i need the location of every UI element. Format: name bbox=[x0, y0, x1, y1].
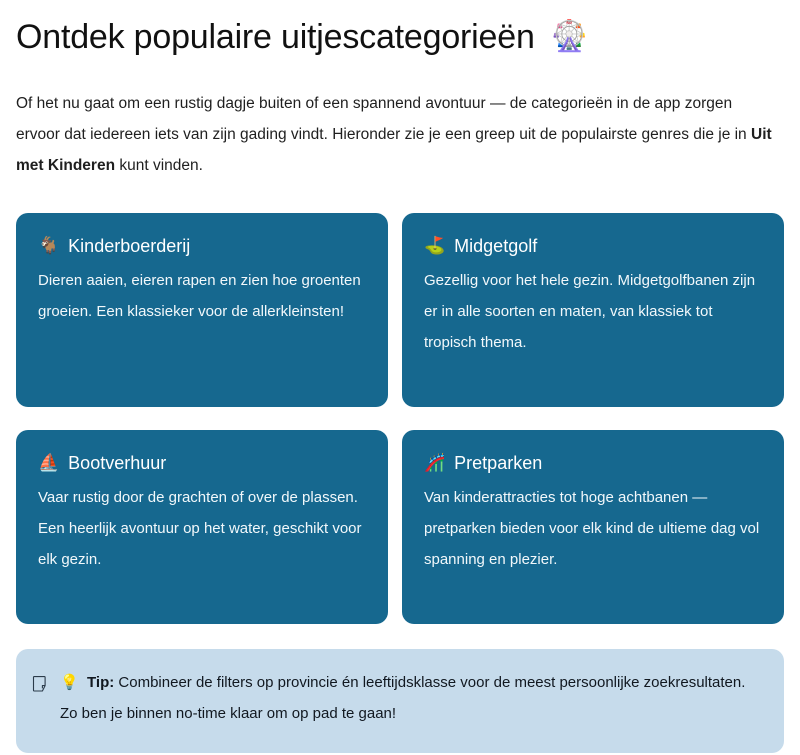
card-title: Bootverhuur bbox=[68, 450, 166, 476]
category-card-kinderboerderij[interactable]: 🐐 Kinderboerderij Dieren aaien, eieren r… bbox=[16, 213, 388, 407]
note-icon bbox=[32, 675, 50, 693]
article-page: Ontdek populaire uitjescategorieën 🎡 Of … bbox=[0, 0, 800, 755]
tip-text: 💡 Tip: Combineer de filters op provincie… bbox=[60, 667, 762, 729]
category-card-grid: 🐐 Kinderboerderij Dieren aaien, eieren r… bbox=[16, 213, 784, 624]
card-description: Vaar rustig door de grachten of over de … bbox=[38, 482, 366, 575]
card-description: Dieren aaien, eieren rapen en zien hoe g… bbox=[38, 265, 366, 327]
lightbulb-icon: 💡 bbox=[60, 673, 79, 691]
tip-body: Combineer de filters op provincie én lee… bbox=[60, 674, 745, 722]
card-heading: ⛵ Bootverhuur bbox=[38, 450, 366, 476]
golf-flag-icon: ⛳ bbox=[424, 238, 445, 255]
card-heading: 🎢 Pretparken bbox=[424, 450, 762, 476]
intro-text-after: kunt vinden. bbox=[115, 157, 203, 174]
card-title: Pretparken bbox=[454, 450, 542, 476]
category-card-midgetgolf[interactable]: ⛳ Midgetgolf Gezellig voor het hele gezi… bbox=[402, 213, 784, 407]
ferris-wheel-icon: 🎡 bbox=[551, 22, 588, 52]
page-title-text: Ontdek populaire uitjescategorieën bbox=[16, 14, 535, 60]
card-heading: 🐐 Kinderboerderij bbox=[38, 233, 366, 259]
tip-label: Tip: bbox=[87, 674, 114, 691]
card-heading: ⛳ Midgetgolf bbox=[424, 233, 762, 259]
page-title: Ontdek populaire uitjescategorieën 🎡 bbox=[16, 0, 784, 60]
sailboat-icon: ⛵ bbox=[38, 455, 59, 472]
intro-text-before: Of het nu gaat om een rustig dagje buite… bbox=[16, 95, 751, 143]
roller-coaster-icon: 🎢 bbox=[424, 455, 445, 472]
card-title: Kinderboerderij bbox=[68, 233, 190, 259]
category-card-bootverhuur[interactable]: ⛵ Bootverhuur Vaar rustig door de gracht… bbox=[16, 430, 388, 624]
goat-icon: 🐐 bbox=[38, 238, 59, 255]
tip-callout: 💡 Tip: Combineer de filters op provincie… bbox=[16, 649, 784, 753]
card-description: Van kinderattracties tot hoge achtbanen … bbox=[424, 482, 762, 575]
card-description: Gezellig voor het hele gezin. Midgetgolf… bbox=[424, 265, 762, 358]
card-title: Midgetgolf bbox=[454, 233, 537, 259]
intro-paragraph: Of het nu gaat om een rustig dagje buite… bbox=[16, 60, 776, 181]
category-card-pretparken[interactable]: 🎢 Pretparken Van kinderattracties tot ho… bbox=[402, 430, 784, 624]
